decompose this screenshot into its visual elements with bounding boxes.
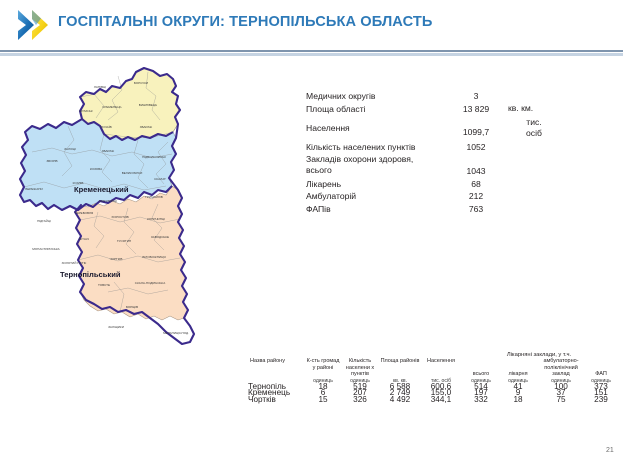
svg-text:ЗОЛОТИЙ ПОТІК: ЗОЛОТИЙ ПОТІК [62,261,87,265]
cell-gromad: 15 [306,397,340,403]
svg-text:ВИШНІВЕЦЬ: ВИШНІВЕЦЬ [139,103,157,107]
col-header-likarn: лікарня [500,358,536,377]
stat-label: Площа області [306,103,450,116]
svg-text:БОРСУКИ: БОРСУКИ [134,81,148,85]
svg-text:КОЗОВА: КОЗОВА [90,167,103,171]
svg-text:СКАЛА-ПОДІЛЬСЬКА: СКАЛА-ПОДІЛЬСЬКА [135,281,166,285]
cell-vsogo: 332 [462,397,500,403]
svg-text:ХОРОСТКІВ: ХОРОСТКІВ [111,215,128,219]
svg-text:КРЕМЕНЕЦЬ: КРЕМЕНЕЦЬ [103,105,122,109]
stat-label: Населення [306,122,450,135]
header-divider-top [0,50,623,52]
stat-value: 13 829 [450,103,502,116]
col-header-ambul: амбулаторно-поліклінічний заклад [536,358,586,377]
map-label-ternopilskyi: Тернопільський [60,270,121,279]
svg-text:БОРЩІВ: БОРЩІВ [126,305,138,309]
stat-value: 1052 [450,141,502,154]
svg-text:ЗБАРАЖ: ЗБАРАЖ [102,149,115,153]
stat-label: Амбулаторій [306,190,450,203]
stat-row-population: Населення 1099,7 тис. осіб [306,115,606,141]
svg-text:ПІДГАЙЦІ: ПІДГАЙЦІ [37,219,51,223]
cell-district-name: Чортків [248,397,306,403]
cell-nasel: 344,1 [420,397,462,403]
svg-text:ТЕРЕБОВЛЯ: ТЕРЕБОВЛЯ [75,211,94,215]
col-header-vsogo: всього [462,358,500,377]
stat-row-faps: ФАПів 763 [306,203,606,216]
stat-label: Лікарень [306,178,450,191]
svg-text:ЗБАРАЖ: ЗБАРАЖ [140,125,153,129]
districts-table: Лікарняні заклади, у т.ч. Назва району К… [248,352,616,403]
cell-punkt: 326 [340,397,380,403]
svg-text:ГРИМАЙЛІВ: ГРИМАЙЛІВ [145,195,163,199]
map-region-chortkivskyi [74,186,218,344]
svg-text:МИКУЛИНЦІ: МИКУЛИНЦІ [99,199,117,203]
stat-label: Закладів охорони здоровя, всього [306,154,450,177]
stat-row-ambulatories: Амбулаторій 212 [306,190,606,203]
col-header-punkt: Кількість населени х пунктів [340,358,380,377]
svg-text:МОНАСТИРИСЬКА: МОНАСТИРИСЬКА [32,247,60,251]
table-row: Чортків 15 326 4 492 344,1 332 18 75 239 [248,397,616,403]
table-header-row: Назва району К-сть громад у районі Кільк… [248,358,616,377]
stat-label: ФАПів [306,203,450,216]
stat-value: 212 [450,190,502,203]
stat-value: 68 [450,178,502,191]
stat-unit: тис. осіб [502,117,564,139]
stat-value: 763 [450,203,502,216]
svg-text:ГУСЯТИН: ГУСЯТИН [117,239,131,243]
stat-row-hospitals: Лікарень 68 [306,178,606,191]
col-header-fap: ФАП [586,358,616,377]
stat-unit: кв. км. [502,103,568,114]
svg-text:МЕЛЬНИЦЯ-ПОД.: МЕЛЬНИЦЯ-ПОД. [163,331,189,335]
svg-text:БЕРЕЖАНИ: БЕРЕЖАНИ [25,187,42,191]
svg-text:БІЛОБОЖНИЦЯ: БІЛОБОЖНИЦЯ [142,255,165,259]
stat-unit-line2: осіб [504,128,564,139]
stat-label-line1: Закладів охорони здоровя, [306,154,450,165]
svg-text:ПІДВОЛОЧИСЬК: ПІДВОЛОЧИСЬК [142,155,166,159]
page-number: 21 [606,447,614,454]
stat-row-settlements: Кількість населених пунктів 1052 [306,141,606,154]
svg-text:ЛАНІВЦІ: ЛАНІВЦІ [94,85,106,89]
svg-text:ЗАВОДСЬКЕ: ЗАВОДСЬКЕ [151,235,169,239]
header-divider-bottom [0,53,623,56]
double-chevron-logo-icon [14,6,54,44]
svg-text:ЗАЛІЗЦІ: ЗАЛІЗЦІ [64,147,76,151]
svg-text:СКАЛАТ: СКАЛАТ [154,177,166,181]
svg-text:ЗБОРІВ: ЗБОРІВ [46,159,57,163]
cell-fap: 239 [586,397,616,403]
svg-text:ВЕЛИКІ БІРКИ: ВЕЛИКІ БІРКИ [122,171,143,175]
page-title: ГОСПІТАЛЬНІ ОКРУГИ: ТЕРНОПІЛЬСЬКА ОБЛАСТ… [58,14,432,30]
cell-ambul: 75 [536,397,586,403]
col-header-nasel: Населення [420,358,462,377]
oblast-map: Кременецький Тернопільський Чортківський… [8,62,256,354]
svg-text:КОПИЧИНЦІ: КОПИЧИНЦІ [147,217,165,221]
col-header-gromad: К-сть громад у районі [306,358,340,377]
stat-label: Медичних округів [306,90,450,103]
cell-likarn: 18 [500,397,536,403]
svg-text:ПОЧАЇВ: ПОЧАЇВ [100,125,111,129]
stat-value: 1043 [450,154,502,178]
stat-row-area: Площа області 13 829 кв. км. [306,103,606,116]
summary-stats: Медичних округів 3 Площа області 13 829 … [306,90,606,216]
svg-text:БУЧАЧ: БУЧАЧ [79,237,89,241]
stat-value: 1099,7 [450,117,502,139]
col-header-ploscha: Площа районів [380,358,420,377]
page-header: ГОСПІТАЛЬНІ ОКРУГИ: ТЕРНОПІЛЬСЬКА ОБЛАСТ… [0,0,623,50]
stat-unit-line1: тис. [504,117,564,128]
stat-value: 3 [450,90,502,103]
svg-text:КОЗЛІВ: КОЗЛІВ [73,181,84,185]
stat-row-health-facilities: Закладів охорони здоровя, всього 1043 [306,154,606,178]
map-label-kremenetskyi: Кременецький [74,185,129,194]
svg-text:ЧОРТКІВ: ЧОРТКІВ [110,257,123,261]
col-header-name: Назва району [248,358,306,377]
svg-text:ТОВСТЕ: ТОВСТЕ [98,283,110,287]
cell-ploscha: 4 492 [380,397,420,403]
stat-label: Кількість населених пунктів [306,141,450,154]
svg-text:ЗАЛІЩИКИ: ЗАЛІЩИКИ [108,325,124,329]
stat-row-medical-okrugs: Медичних округів 3 [306,90,606,103]
stat-label-line2: всього [306,165,450,176]
svg-text:ШУМСЬК: ШУМСЬК [79,109,92,113]
